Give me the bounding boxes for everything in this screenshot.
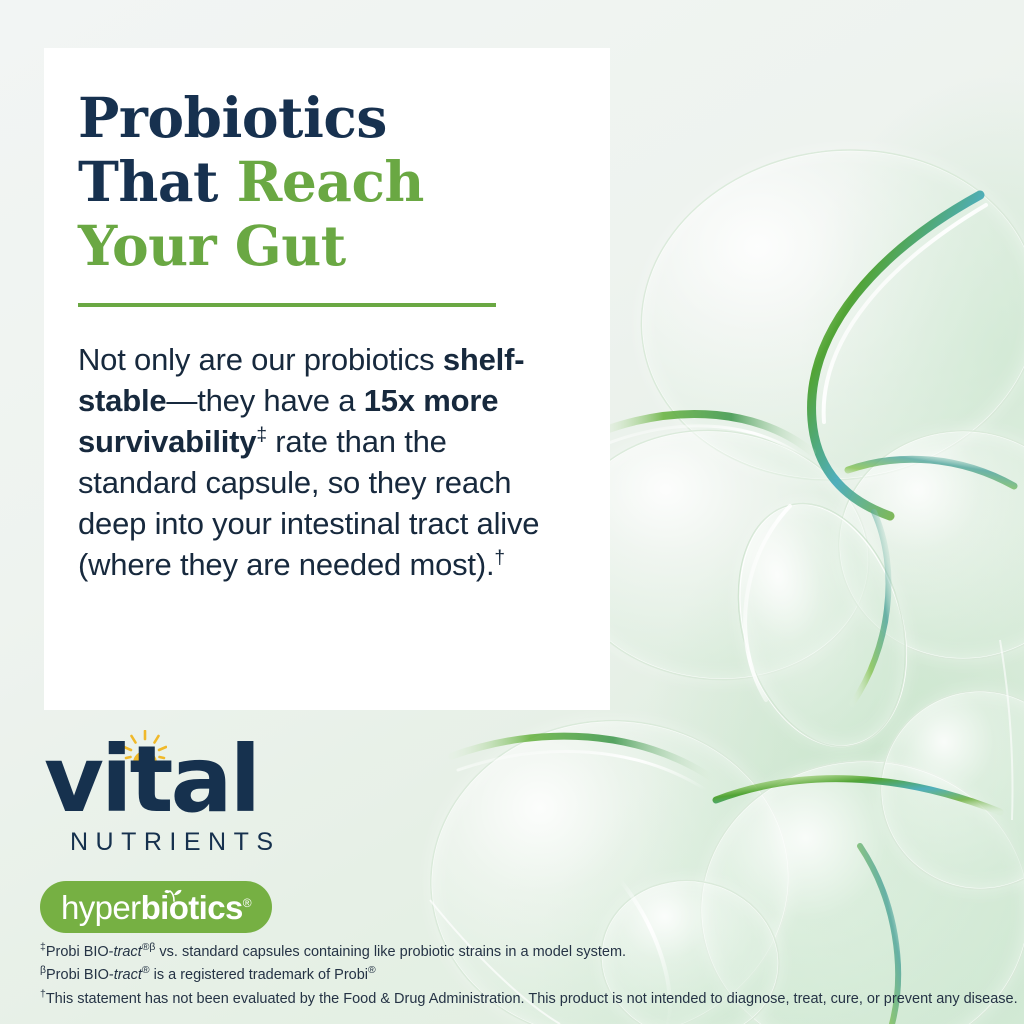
hyperbiotics-wordmark: hyperbiotics®	[61, 891, 251, 924]
headline-line-2-accent: Reach	[237, 149, 424, 214]
promo-image: Probiotics That Reach Your Gut Not only …	[0, 0, 1024, 1024]
headline-line-1: Probiotics	[78, 85, 387, 150]
footnote-2: βProbi BIO-tract® is a registered tradem…	[40, 964, 1020, 987]
green-divider	[78, 303, 496, 307]
footnote-1: ‡Probi BIO-tract®β vs. standard capsules…	[40, 941, 1020, 964]
hyperbiotics-light-text: hyper	[61, 889, 141, 926]
leaf-sprout-icon	[164, 886, 184, 902]
body-part-2: —they have a	[166, 383, 363, 418]
footnote-2-post-sup: ®	[368, 966, 376, 977]
hyperbiotics-bold-text: biotics	[141, 889, 243, 926]
vital-nutrients-logo: vital NUTRIENTS	[44, 724, 344, 856]
vital-wordmark: vital	[44, 734, 258, 826]
body-copy: Not only are our probiotics shelf-stable…	[78, 340, 566, 585]
registered-mark: ®	[243, 896, 251, 910]
footnote-3-text: This statement has not been evaluated by…	[46, 991, 1018, 1007]
vital-subtitle: NUTRIENTS	[70, 828, 281, 857]
hyperbiotics-logo: hyperbiotics®	[40, 881, 272, 933]
footnote-2-italic: tract	[114, 967, 142, 983]
footnote-2-post: is a registered trademark of Probi	[150, 967, 368, 983]
footnote-3: †This statement has not been evaluated b…	[40, 988, 1020, 1011]
footnotes: ‡Probi BIO-tract®β vs. standard capsules…	[40, 941, 1020, 1011]
footnote-2-pre: Probi BIO-	[46, 967, 114, 983]
footnote-marker-survivability: ‡	[256, 425, 266, 446]
footnote-1-pre: Probi BIO-	[46, 944, 114, 960]
headline-line-3-accent: Your Gut	[78, 213, 346, 278]
headline-line-2-dark: That	[78, 149, 237, 214]
footnote-2-sup: ®	[142, 966, 150, 977]
footnote-marker-dagger: †	[494, 548, 504, 569]
footnote-1-post: vs. standard capsules containing like pr…	[155, 944, 626, 960]
body-part-1: Not only are our probiotics	[78, 342, 443, 377]
footnote-1-sup: ®β	[142, 942, 156, 953]
page-title: Probiotics That Reach Your Gut	[78, 86, 566, 277]
content-card: Probiotics That Reach Your Gut Not only …	[44, 48, 610, 710]
footnote-1-italic: tract	[114, 944, 142, 960]
